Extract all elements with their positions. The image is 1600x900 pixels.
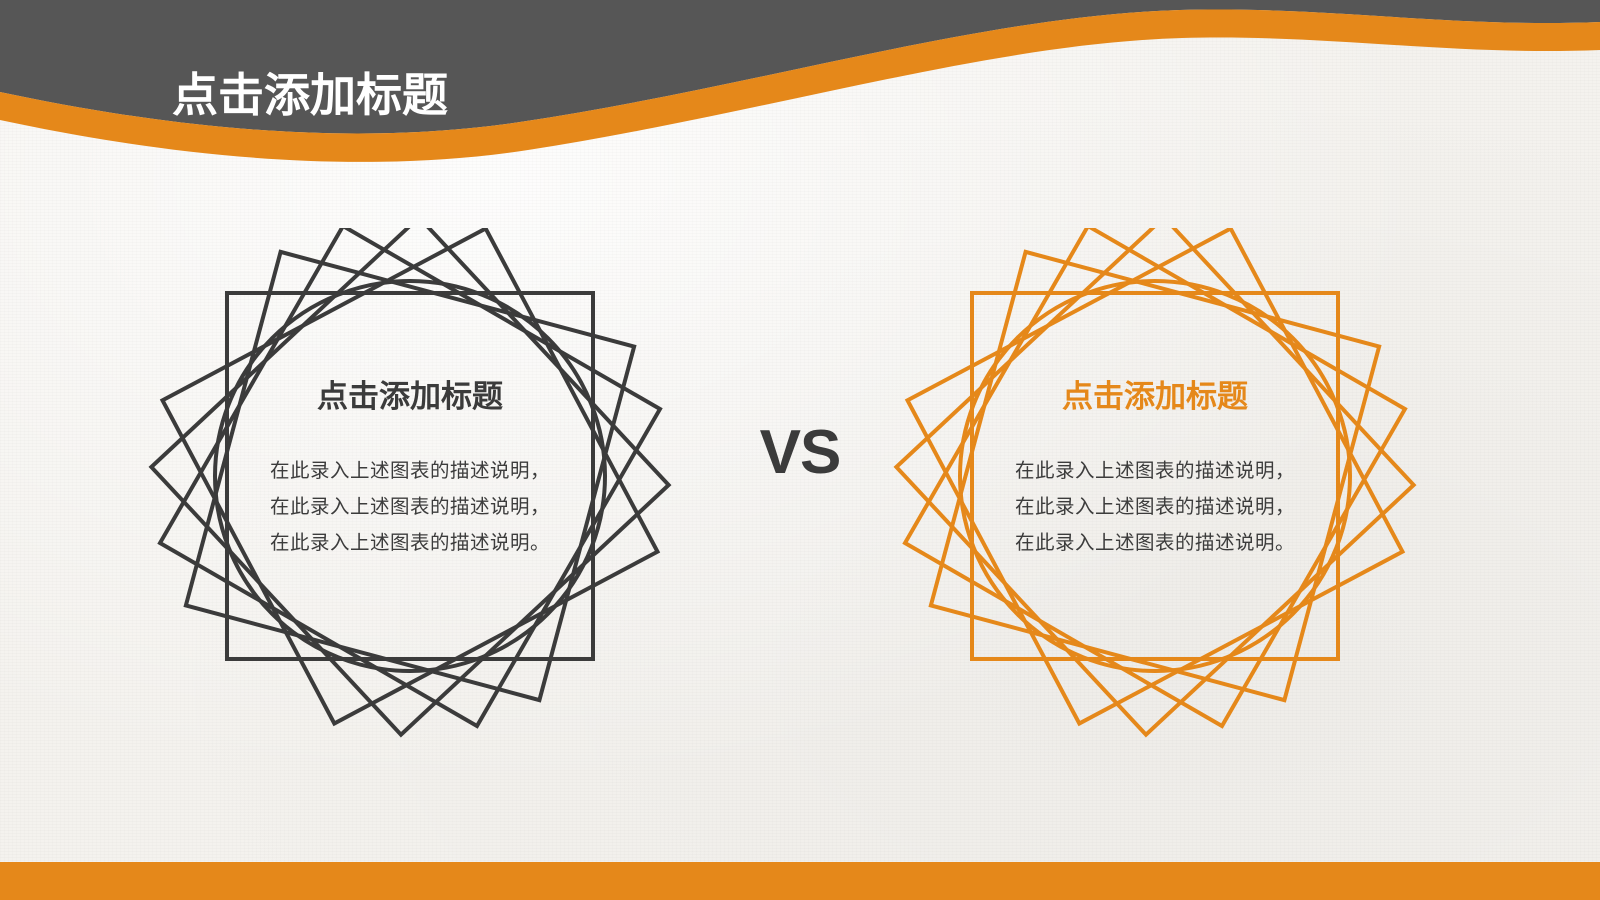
panel-right: 点击添加标题 在此录入上述图表的描述说明，在此录入上述图表的描述说明，在此录入上… <box>880 228 1430 738</box>
panel-right-body: 在此录入上述图表的描述说明，在此录入上述图表的描述说明，在此录入上述图表的描述说… <box>1010 453 1300 561</box>
panel-right-content: 点击添加标题 在此录入上述图表的描述说明，在此录入上述图表的描述说明，在此录入上… <box>965 378 1345 561</box>
panel-right-title: 点击添加标题 <box>965 378 1345 415</box>
bottom-accent-bar <box>0 862 1600 900</box>
page-title: 点击添加标题 <box>172 70 448 121</box>
panel-left-title: 点击添加标题 <box>220 378 600 415</box>
slide-canvas: 点击添加标题 点击添加标题 在此录入上述图表的描述说明，在此录入上述图表的描述说… <box>0 0 1600 900</box>
